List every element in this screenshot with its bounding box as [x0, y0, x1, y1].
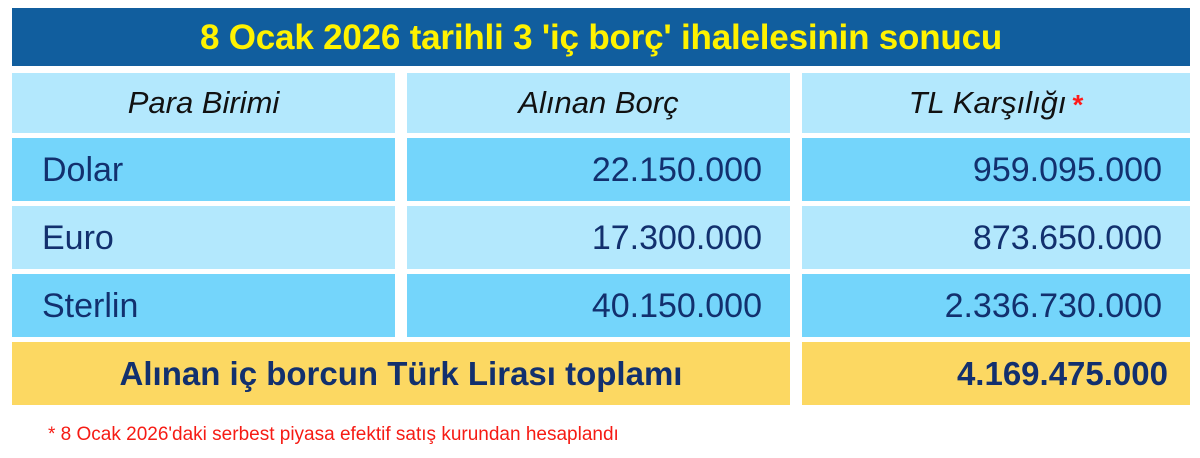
cell-debt-taken: 17.300.000	[407, 206, 790, 269]
value-debt-taken: 22.150.000	[592, 153, 762, 187]
cell-debt-taken: 22.150.000	[407, 138, 790, 201]
cell-debt-taken: 40.150.000	[407, 274, 790, 337]
total-label: Alınan iç borcun Türk Lirası toplamı	[120, 357, 683, 390]
value-tl-equivalent: 2.336.730.000	[945, 289, 1162, 323]
value-tl-equivalent: 959.095.000	[973, 153, 1162, 187]
table-header-row: Para Birimi Alınan Borç TL Karşılığı*	[12, 73, 1190, 133]
cell-currency: Sterlin	[12, 274, 395, 337]
value-currency: Dolar	[42, 153, 123, 187]
value-currency: Sterlin	[42, 289, 138, 323]
header-cell-currency: Para Birimi	[12, 73, 395, 133]
header-cell-tl-equivalent: TL Karşılığı*	[802, 73, 1190, 133]
cell-tl-equivalent: 959.095.000	[802, 138, 1190, 201]
infographic-root: 8 Ocak 2026 tarihli 3 'iç borç' ihaleles…	[0, 0, 1200, 458]
title-banner: 8 Ocak 2026 tarihli 3 'iç borç' ihaleles…	[12, 8, 1190, 66]
total-value: 4.169.475.000	[957, 357, 1168, 390]
cell-tl-equivalent: 873.650.000	[802, 206, 1190, 269]
footnote-text: * 8 Ocak 2026'daki serbest piyasa efekti…	[48, 424, 619, 446]
results-table: Para Birimi Alınan Borç TL Karşılığı* Do…	[12, 73, 1190, 405]
table-total-row: Alınan iç borcun Türk Lirası toplamı 4.1…	[12, 342, 1190, 405]
table-row: Dolar 22.150.000 959.095.000	[12, 138, 1190, 201]
cell-currency: Euro	[12, 206, 395, 269]
page-title: 8 Ocak 2026 tarihli 3 'iç borç' ihaleles…	[200, 20, 1002, 55]
total-label-cell: Alınan iç borcun Türk Lirası toplamı	[12, 342, 790, 405]
table-row: Euro 17.300.000 873.650.000	[12, 206, 1190, 269]
header-label-tl-equivalent: TL Karşılığı	[909, 85, 1067, 121]
value-currency: Euro	[42, 221, 114, 255]
value-debt-taken: 40.150.000	[592, 289, 762, 323]
header-cell-debt-taken: Alınan Borç	[407, 73, 790, 133]
cell-currency: Dolar	[12, 138, 395, 201]
header-label-currency: Para Birimi	[128, 85, 280, 121]
value-tl-equivalent: 873.650.000	[973, 221, 1162, 255]
value-debt-taken: 17.300.000	[592, 221, 762, 255]
header-label-debt-taken: Alınan Borç	[518, 85, 678, 121]
cell-tl-equivalent: 2.336.730.000	[802, 274, 1190, 337]
total-value-cell: 4.169.475.000	[802, 342, 1190, 405]
table-row: Sterlin 40.150.000 2.336.730.000	[12, 274, 1190, 337]
